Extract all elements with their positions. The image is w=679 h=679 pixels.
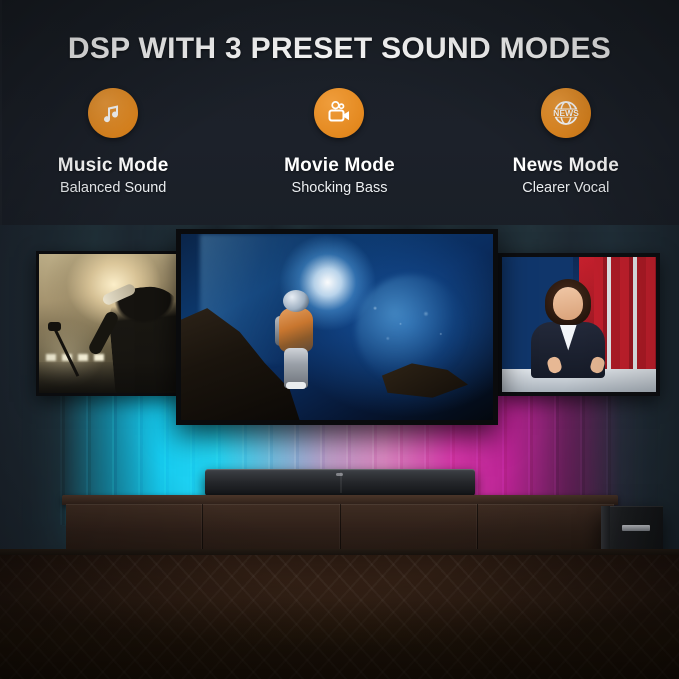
mode-subtitle: Clearer Vocal: [522, 180, 609, 196]
mode-title: Movie Mode: [284, 155, 395, 177]
living-room-scene: [0, 225, 679, 679]
astronaut-helmet: [283, 290, 309, 312]
product-marketing-image: DSP WITH 3 PRESET SOUND MODES Music Mode…: [0, 0, 679, 679]
music-note-icon: [99, 99, 127, 127]
mode-item-music[interactable]: Music Mode Balanced Sound: [0, 88, 226, 196]
video-camera-icon: [324, 99, 354, 127]
mode-title: Music Mode: [58, 155, 169, 177]
mode-subtitle: Shocking Bass: [292, 180, 388, 196]
news-globe-icon: NEWS: [551, 98, 581, 128]
astronaut: [278, 290, 316, 388]
soundbar: [205, 469, 475, 496]
svg-text:NEWS: NEWS: [553, 108, 579, 118]
astronaut-body: [279, 308, 313, 352]
center-tv-screen: [181, 234, 493, 420]
space-debris: [356, 297, 462, 353]
floor-shading: [0, 555, 679, 679]
subwoofer-badge: [622, 525, 650, 531]
stage-lights: [46, 354, 106, 361]
crowd: [39, 362, 183, 393]
music-mode-badge: [88, 88, 138, 138]
anchor-head: [553, 287, 583, 320]
astronaut-boots: [286, 382, 306, 389]
mode-item-movie[interactable]: Movie Mode Shocking Bass: [226, 88, 452, 196]
left-tv: [36, 251, 186, 396]
mode-item-news[interactable]: NEWS News Mode Clearer Vocal: [453, 88, 679, 196]
right-tv: [498, 253, 660, 396]
center-tv: [176, 229, 498, 425]
mode-subtitle: Balanced Sound: [60, 180, 166, 196]
right-tv-screen: [502, 257, 656, 392]
soundbar-led-indicator: [336, 473, 343, 476]
sound-modes-row: Music Mode Balanced Sound Movie Mode Sho…: [0, 88, 679, 196]
left-tv-screen: [39, 254, 183, 393]
news-mode-badge: NEWS: [541, 88, 591, 138]
mode-title: News Mode: [513, 155, 619, 177]
page-title: DSP WITH 3 PRESET SOUND MODES: [0, 32, 679, 66]
movie-mode-badge: [314, 88, 364, 138]
